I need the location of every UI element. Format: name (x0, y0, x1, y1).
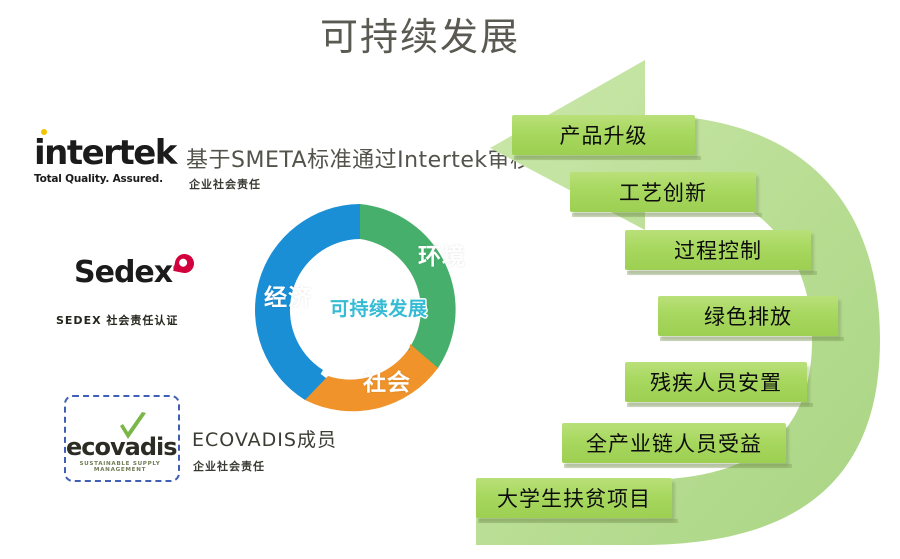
step-label: 大学生扶贫项目 (497, 483, 651, 513)
intertek-tagline: Total Quality. Assured. (34, 173, 184, 185)
step-label: 全产业链人员受益 (586, 428, 762, 458)
intertek-sub-note: 企业社会责任 (189, 176, 261, 192)
intertek-dot-icon (41, 129, 47, 135)
step-label: 过程控制 (674, 235, 762, 265)
intertek-wordmark-text: intertek (34, 133, 176, 173)
sedex-wordmark-text: Sedex (74, 255, 172, 290)
step-box-supply-chain-benefit[interactable]: 全产业链人员受益 (562, 423, 786, 463)
cycle-center-label: 可持续发展 (330, 294, 428, 321)
step-box-process-control[interactable]: 过程控制 (625, 230, 811, 270)
certification-logo-intertek: intertek Total Quality. Assured. (34, 136, 184, 185)
ecovadis-wordmark: ecovadis (66, 435, 176, 459)
slide-canvas: 可持续发展 intertek Total Quality. Assured. 基… (0, 0, 900, 559)
cycle-label-economy: 经济 (264, 278, 312, 312)
step-label: 产品升级 (560, 120, 648, 150)
certification-logo-sedex: Sedex® (74, 258, 180, 288)
step-label: 残疾人员安置 (650, 367, 782, 397)
step-box-disabled-placement[interactable]: 残疾人员安置 (625, 362, 807, 402)
sedex-wordmark: Sedex® (74, 258, 180, 288)
step-box-green-emission[interactable]: 绿色排放 (658, 296, 838, 336)
step-box-product-upgrade[interactable]: 产品升级 (512, 115, 695, 155)
step-box-process-innovation[interactable]: 工艺创新 (570, 172, 756, 212)
ecovadis-note: ECOVADIS成员 (192, 425, 337, 452)
sedex-caption: SEDEX 社会责任认证 (56, 312, 178, 328)
cycle-label-society: 社会 (363, 363, 411, 397)
ecovadis-tagline: SUSTAINABLE SUPPLY MANAGEMENT (64, 461, 176, 473)
step-box-student-poverty-program[interactable]: 大学生扶贫项目 (476, 478, 672, 518)
step-label: 工艺创新 (619, 177, 707, 207)
step-label: 绿色排放 (704, 301, 792, 331)
ecovadis-sub-note: 企业社会责任 (193, 458, 265, 474)
intertek-wordmark: intertek (34, 136, 184, 170)
sedex-swoosh-icon (173, 252, 196, 275)
